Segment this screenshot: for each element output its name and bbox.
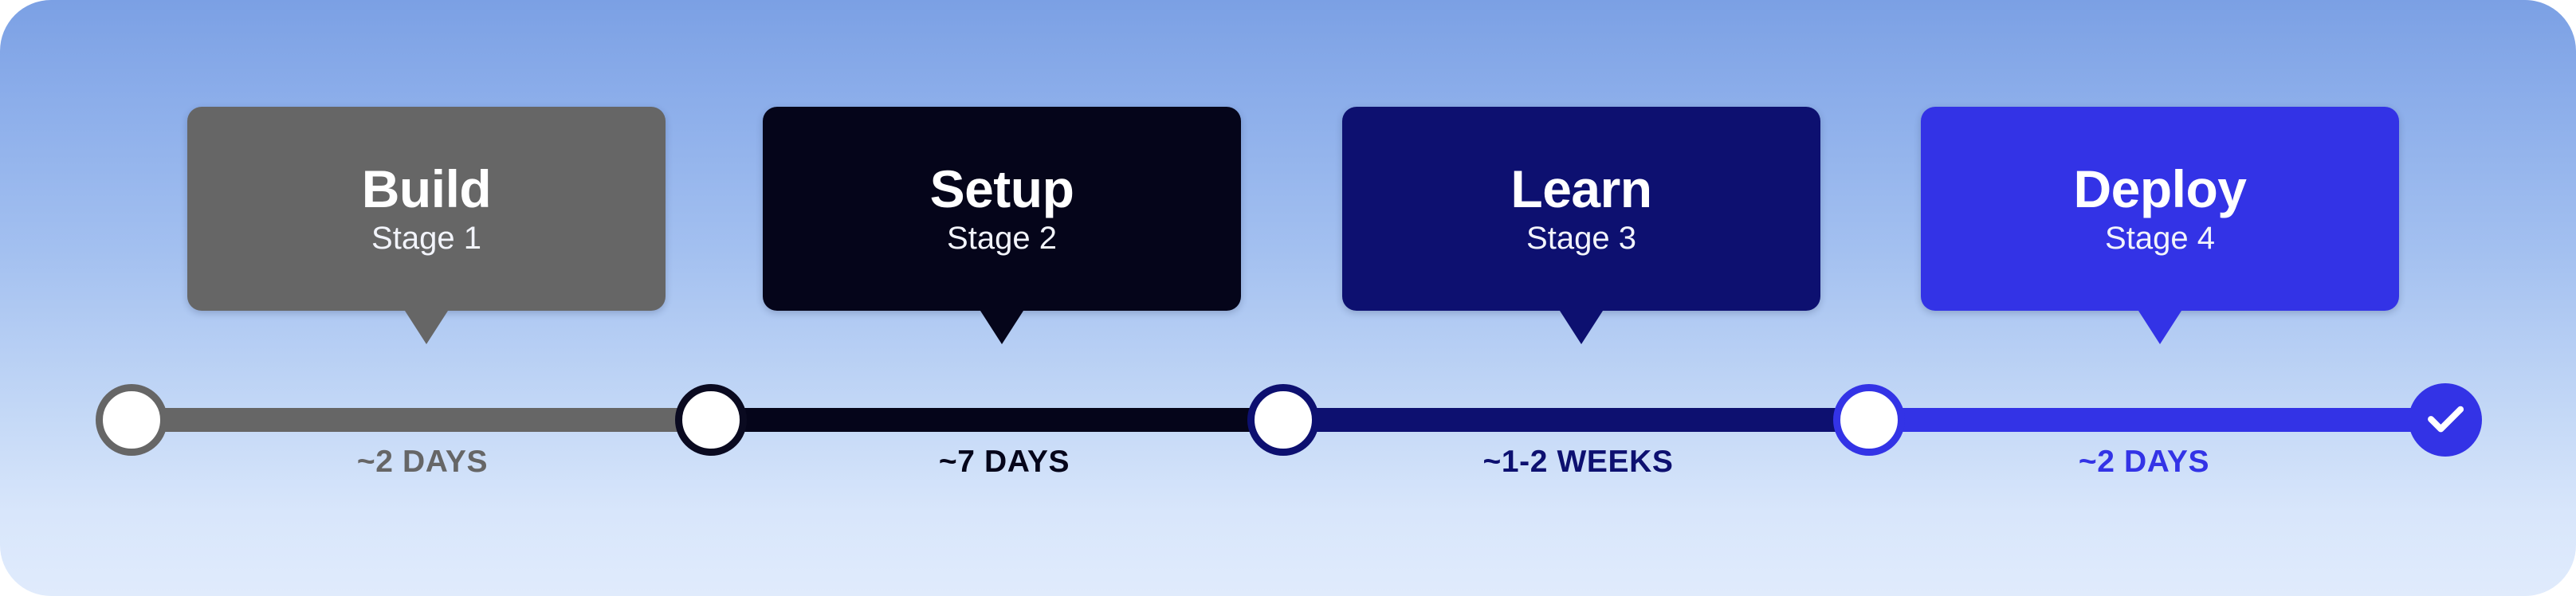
milestone-node-setup[interactable] (675, 384, 747, 456)
milestone-node-complete[interactable] (2409, 383, 2482, 457)
duration-label-learn: ~1-2 WEEKS (1403, 445, 1753, 480)
check-icon (2423, 398, 2468, 442)
track-segment-build (132, 408, 713, 432)
duration-label-deploy: ~2 DAYS (1985, 445, 2303, 480)
duration-label-setup: ~7 DAYS (845, 445, 1164, 480)
track-segment-setup (709, 408, 1287, 432)
milestone-node-deploy[interactable] (1833, 384, 1905, 456)
track-segment-learn (1283, 408, 1873, 432)
duration-label-build: ~2 DAYS (263, 445, 582, 480)
milestone-node-learn[interactable] (1247, 384, 1319, 456)
track-segment-deploy (1869, 408, 2451, 432)
timeline-diagram: Build Stage 1 Setup Stage 2 Learn Stage … (0, 0, 2576, 596)
progress-track: ~2 DAYS ~7 DAYS ~1-2 WEEKS ~2 DAYS (0, 0, 2576, 596)
milestone-node-build[interactable] (96, 384, 167, 456)
